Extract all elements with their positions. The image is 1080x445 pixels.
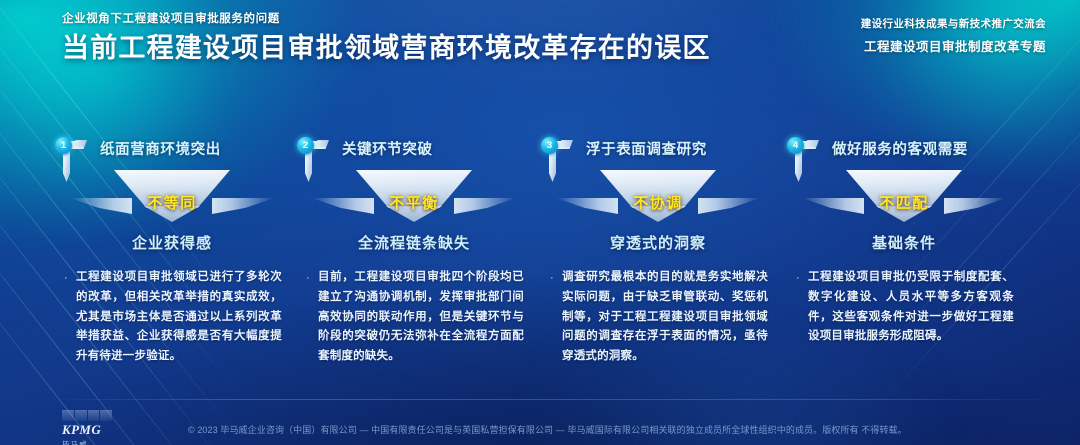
column-heading: 关键环节突破 bbox=[342, 138, 433, 159]
conference-topic: 工程建设项目审批制度改革专题 bbox=[861, 36, 1046, 55]
step-number-badge: 1 bbox=[55, 137, 72, 154]
column-heading: 浮于表面调查研究 bbox=[586, 138, 707, 159]
content-column: 1 纸面营商环境突出 不等同 企业获得感 · 工程建设项目审批领域已进行了多轮次… bbox=[48, 128, 296, 388]
column-heading: 做好服务的客观需要 bbox=[832, 138, 968, 159]
column-body: · 调查研究最根本的目的就是务实地解决实际问题，由于缺乏审管联动、奖惩机制等，对… bbox=[550, 268, 768, 367]
bullet-icon: · bbox=[306, 268, 312, 367]
slide-canvas: 企业视角下工程建设项目审批服务的问题 当前工程建设项目审批领域营商环境改革存在的… bbox=[0, 0, 1080, 445]
column-body: · 工程建设项目审批仍受限于制度配套、数字化建设、人员水平等多方客观条件，这些客… bbox=[796, 268, 1014, 347]
content-column: 3 浮于表面调查研究 不协调 穿透式的洞察 · 调查研究最根本的目的就是务实地解… bbox=[534, 128, 782, 388]
slide-kicker: 企业视角下工程建设项目审批服务的问题 bbox=[62, 12, 711, 27]
bullet-icon: · bbox=[796, 268, 802, 347]
content-columns: 1 纸面营商环境突出 不等同 企业获得感 · 工程建设项目审批领域已进行了多轮次… bbox=[0, 128, 1080, 388]
copyright-text: © 2023 毕马威企业咨询（中国）有限公司 — 中国有限责任公司是与英国私营担… bbox=[188, 423, 1060, 436]
step-number-badge: 2 bbox=[297, 137, 314, 154]
column-body-text: 目前，工程建设项目审批四个阶段均已建立了沟通协调机制，发挥审批部门间高效协同的联… bbox=[318, 268, 524, 367]
bullet-icon: · bbox=[550, 268, 556, 367]
bullet-icon: · bbox=[64, 268, 70, 367]
column-body: · 工程建设项目审批领域已进行了多轮次的改革，但相关改革举措的真实成效，尤其是市… bbox=[64, 268, 282, 367]
column-body-text: 工程建设项目审批领域已进行了多轮次的改革，但相关改革举措的真实成效，尤其是市场主… bbox=[76, 268, 282, 367]
funnel-label: 不等同 bbox=[62, 192, 282, 213]
funnel-icon: 不平衡 bbox=[304, 170, 524, 228]
slide-footer: KPMG 毕马威 © 2023 毕马威企业咨询（中国）有限公司 — 中国有限责任… bbox=[0, 399, 1080, 445]
conference-name: 建设行业科技成果与新技术推广交流会 bbox=[861, 16, 1046, 31]
column-body-text: 调查研究最根本的目的就是务实地解决实际问题，由于缺乏审管联动、奖惩机制等，对于工… bbox=[562, 268, 768, 367]
funnel-icon: 不协调 bbox=[548, 170, 768, 228]
funnel-label: 不匹配 bbox=[794, 192, 1014, 213]
content-column: 4 做好服务的客观需要 不匹配 基础条件 · 工程建设项目审批仍受限于制度配套、… bbox=[780, 128, 1028, 388]
column-subheading: 基础条件 bbox=[780, 232, 1028, 253]
kpmg-logo: KPMG 毕马威 bbox=[62, 410, 124, 445]
column-heading: 纸面营商环境突出 bbox=[100, 138, 221, 159]
column-subheading: 全流程链条缺失 bbox=[290, 232, 538, 253]
conference-branding: 建设行业科技成果与新技术推广交流会 工程建设项目审批制度改革专题 bbox=[861, 16, 1046, 55]
funnel-label: 不协调 bbox=[548, 192, 768, 213]
kpmg-wordmark: KPMG bbox=[62, 422, 124, 438]
page-title: 当前工程建设项目审批领域营商环境改革存在的误区 bbox=[62, 33, 711, 65]
column-subheading: 企业获得感 bbox=[48, 232, 296, 253]
funnel-icon: 不等同 bbox=[62, 170, 282, 228]
column-body-text: 工程建设项目审批仍受限于制度配套、数字化建设、人员水平等多方客观条件，这些客观条… bbox=[808, 268, 1014, 347]
slide-header: 企业视角下工程建设项目审批服务的问题 当前工程建设项目审批领域营商环境改革存在的… bbox=[62, 12, 711, 65]
funnel-label: 不平衡 bbox=[304, 192, 524, 213]
footer-divider bbox=[50, 399, 1060, 400]
step-number-badge: 3 bbox=[541, 137, 558, 154]
kpmg-grid-icon bbox=[62, 410, 112, 421]
column-subheading: 穿透式的洞察 bbox=[534, 232, 782, 253]
funnel-icon: 不匹配 bbox=[794, 170, 1014, 228]
content-column: 2 关键环节突破 不平衡 全流程链条缺失 · 目前，工程建设项目审批四个阶段均已… bbox=[290, 128, 538, 388]
kpmg-chinese-name: 毕马威 bbox=[62, 439, 124, 445]
column-body: · 目前，工程建设项目审批四个阶段均已建立了沟通协调机制，发挥审批部门间高效协同… bbox=[306, 268, 524, 367]
step-number-badge: 4 bbox=[787, 137, 804, 154]
